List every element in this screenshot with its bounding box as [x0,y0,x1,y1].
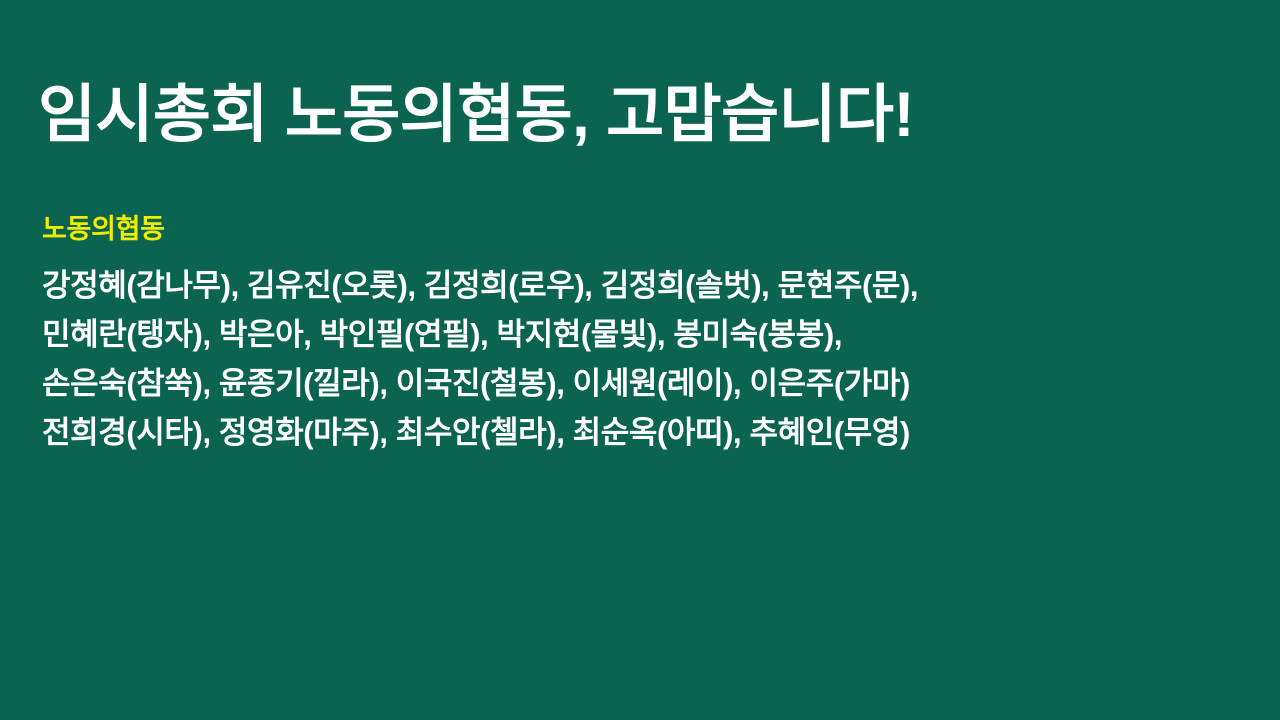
list-item: 전희경(시타), 정영화(마주), 최수안(첼라), 최순옥(아띠), 추혜인(… [42,408,1242,457]
member-name-list: 강정혜(감나무), 김유진(오롯), 김정희(로우), 김정희(솔벗), 문현주… [42,261,1242,457]
list-item: 강정혜(감나무), 김유진(오롯), 김정희(로우), 김정희(솔벗), 문현주… [42,261,1242,310]
list-item: 손은숙(참쑥), 윤종기(낄라), 이국진(철봉), 이세원(레이), 이은주(… [42,359,1242,408]
list-item: 민혜란(탱자), 박은아, 박인필(연필), 박지현(물빛), 봉미숙(봉봉), [42,310,1242,359]
content-block: 노동의협동 강정혜(감나무), 김유진(오롯), 김정희(로우), 김정희(솔벗… [42,212,1242,457]
group-heading: 노동의협동 [42,212,1242,247]
page-title: 임시총회 노동의협동, 고맙습니다! [38,74,1238,157]
slide-canvas: 임시총회 노동의협동, 고맙습니다! 노동의협동 강정혜(감나무), 김유진(오… [0,0,1280,720]
